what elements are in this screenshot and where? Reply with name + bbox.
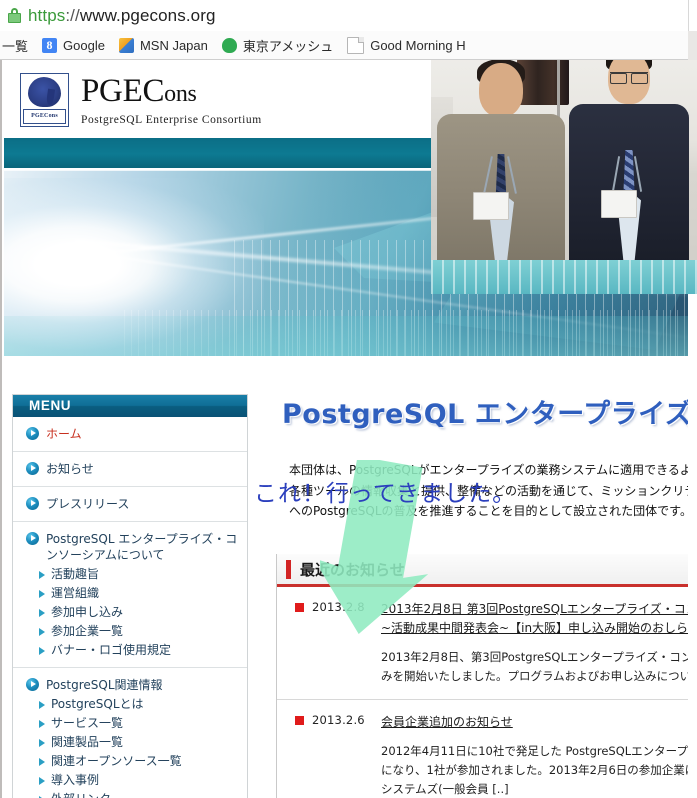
logo-subtitle: PostgreSQL Enterprise Consortium	[81, 114, 262, 126]
sidebar-subitem-label: 導入事例	[51, 773, 99, 788]
logo-text: PGECons PostgreSQL Enterprise Consortium	[81, 75, 262, 126]
sidebar-group-press-release: プレスリリース	[13, 487, 247, 522]
sidebar-subitem-product-list[interactable]: 関連製品一覧	[13, 735, 247, 750]
sidebar-subitem-label: 活動趣旨	[51, 567, 99, 582]
bookmark-label: 一覧	[2, 36, 28, 55]
msn-icon	[119, 38, 134, 53]
person-right	[569, 46, 689, 264]
document-icon	[347, 37, 364, 54]
sidebar-item-label: お知らせ	[46, 461, 94, 477]
sidebar-subitem-member-list[interactable]: 参加企業一覧	[13, 624, 247, 639]
sidebar-submenu-postgresql-info: PostgreSQLとは サービス一覧 関連製品一覧 関連オープンソー	[13, 697, 247, 798]
bookmark-label: 東京アメッシュ	[243, 36, 333, 55]
arrow-bullet-icon	[26, 497, 39, 510]
browser-chrome: https://www.pgecons.org 一覧 8 Google MSN …	[0, 0, 697, 60]
sidebar-subitem-organization[interactable]: 運営組織	[13, 586, 247, 601]
sidebar-item-home[interactable]: ホーム	[13, 426, 247, 442]
sidebar-subitem-label: 参加申し込み	[51, 605, 123, 620]
triangle-icon	[39, 571, 45, 579]
bookmark-item-good-morning[interactable]: Good Morning H	[347, 37, 465, 54]
triangle-icon	[39, 701, 45, 709]
bookmark-item-list[interactable]: 一覧	[2, 36, 28, 55]
bookmark-item-google[interactable]: 8 Google	[42, 38, 105, 53]
arrow-bullet-icon	[26, 532, 39, 545]
sidebar-group-postgresql-info: PostgreSQL関連情報 PostgreSQLとは サービス一覧	[13, 668, 247, 798]
sidebar-item-label: プレスリリース	[46, 496, 129, 512]
triangle-icon	[39, 777, 45, 785]
sidebar-subitem-label: 外部リンク	[51, 792, 111, 798]
sidebar-item-label: PostgreSQL関連情報	[46, 677, 163, 693]
triangle-icon	[39, 758, 45, 766]
person-left	[437, 59, 565, 264]
glasses-icon	[610, 72, 648, 83]
sidebar-subitem-label: 関連製品一覧	[51, 735, 123, 750]
arrow-bullet-icon	[26, 462, 39, 475]
sidebar-header: MENU	[13, 395, 247, 417]
sidebar-subitem-banner-logo-rules[interactable]: バナー・ロゴ使用規定	[13, 643, 247, 658]
news-excerpt-line: みを開始いたしました。プログラムおよびお申し込みについてl	[381, 667, 688, 686]
photo-overlay	[431, 45, 697, 294]
triangle-icon	[39, 609, 45, 617]
triangle-icon	[39, 590, 45, 598]
pgecons-elephant-icon: PGECons	[20, 73, 69, 127]
google-icon: 8	[42, 38, 57, 53]
bookmark-label: Good Morning H	[370, 38, 465, 53]
sidebar-group-news: お知らせ	[13, 452, 247, 487]
sidebar-subitem-label: 運営組織	[51, 586, 99, 601]
logo-mark-text: PGECons	[23, 109, 66, 124]
triangle-icon	[39, 739, 45, 747]
sidebar-subitem-label: PostgreSQLとは	[51, 697, 144, 712]
sidebar-subitem-purpose[interactable]: 活動趣旨	[13, 567, 247, 582]
site-logo[interactable]: PGECons PGECons PostgreSQL Enterprise Co…	[20, 73, 262, 127]
sidebar-subitem-label: 参加企業一覧	[51, 624, 123, 639]
triangle-icon	[39, 628, 45, 636]
news-excerpt: 2013年2月8日、第3回PostgreSQLエンタープライズ・コンソーシ みを…	[381, 648, 688, 686]
url-separator: ://	[65, 6, 79, 25]
arrow-bullet-icon	[26, 678, 39, 691]
bookmark-item-msn-japan[interactable]: MSN Japan	[119, 38, 208, 53]
red-bar-icon	[286, 560, 291, 579]
sidebar-item-label: ホーム	[46, 426, 82, 442]
sidebar-submenu-about: 活動趣旨 運営組織 参加申し込み 参加企業一覧	[13, 567, 247, 658]
annotation-text: これ！行ってきました。	[254, 474, 516, 508]
bookmarks-bar[interactable]: 一覧 8 Google MSN Japan 東京アメッシュ Good Morni…	[0, 31, 688, 60]
logo-title: PGECons	[81, 75, 262, 111]
logo-title-main: PGEC	[81, 73, 164, 109]
sidebar-group-about: PostgreSQL エンタープライズ・コンソーシアムについて 活動趣旨 運営組…	[13, 522, 247, 668]
news-date: 2013.2.6	[277, 713, 381, 798]
bookmark-label: Google	[63, 38, 105, 53]
sidebar-item-label: PostgreSQL エンタープライズ・コンソーシアムについて	[46, 531, 239, 563]
sidebar-item-about[interactable]: PostgreSQL エンタープライズ・コンソーシアムについて	[13, 531, 247, 563]
page-title: PostgreSQL エンタープライズ・コン	[282, 392, 688, 431]
sidebar-subitem-label: サービス一覧	[51, 716, 123, 731]
sidebar-item-postgresql-info[interactable]: PostgreSQL関連情報	[13, 677, 247, 693]
sidebar-subitem-external-links[interactable]: 外部リンク	[13, 792, 247, 798]
news-title-link[interactable]: 会員企業追加のお知らせ	[381, 713, 688, 732]
sidebar-subitem-label: 関連オープンソース一覧	[51, 754, 182, 769]
bookmark-label: MSN Japan	[140, 38, 208, 53]
news-item[interactable]: 2013.2.6 会員企業追加のお知らせ 2012年4月11日に10社で発足した…	[277, 700, 688, 798]
news-date-label: 2013.2.6	[312, 713, 365, 727]
news-excerpt-line: システムズ(一般会員 [..]	[381, 780, 688, 798]
triangle-icon	[39, 720, 45, 728]
sidebar-subitem-apply[interactable]: 参加申し込み	[13, 605, 247, 620]
url-scheme: https	[28, 6, 65, 25]
news-excerpt: 2012年4月11日に10社で発足した PostgreSQLエンタープライ にな…	[381, 742, 688, 798]
sidebar-subitem-label: バナー・ロゴ使用規定	[51, 643, 171, 658]
lock-icon	[8, 8, 21, 23]
url-text: https://www.pgecons.org	[28, 6, 216, 26]
sidebar-group-home: ホーム	[13, 417, 247, 452]
sidebar-item-press-release[interactable]: プレスリリース	[13, 496, 247, 512]
sidebar-subitem-what-is-postgresql[interactable]: PostgreSQLとは	[13, 697, 247, 712]
news-excerpt-line: になり、1社が参加されました。2013年2月6日の参加企業は下	[381, 761, 688, 780]
bookmark-item-tokyo-amesh[interactable]: 東京アメッシュ	[222, 36, 333, 55]
sidebar-subitem-service-list[interactable]: サービス一覧	[13, 716, 247, 731]
sidebar-menu: MENU ホーム お知らせ プレスリリース	[12, 394, 248, 798]
logo-title-small: ons	[164, 81, 196, 107]
sidebar-subitem-case-studies[interactable]: 導入事例	[13, 773, 247, 788]
arrow-bullet-icon	[26, 427, 39, 440]
news-excerpt-line: 2013年2月8日、第3回PostgreSQLエンタープライズ・コンソーシ	[381, 648, 688, 667]
sidebar-subitem-opensource-list[interactable]: 関連オープンソース一覧	[13, 754, 247, 769]
chrome-right-edge	[688, 0, 697, 60]
sidebar-item-news[interactable]: お知らせ	[13, 461, 247, 477]
news-excerpt-line: 2012年4月11日に10社で発足した PostgreSQLエンタープライ	[381, 742, 688, 761]
tokyo-amesh-icon	[222, 38, 237, 53]
news-body: 会員企業追加のお知らせ 2012年4月11日に10社で発足した PostgreS…	[381, 713, 688, 798]
url-host: www.pgecons.org	[80, 6, 216, 25]
red-square-icon	[295, 716, 304, 725]
triangle-icon	[39, 647, 45, 655]
red-square-icon	[295, 603, 304, 612]
address-bar[interactable]: https://www.pgecons.org	[0, 0, 688, 32]
